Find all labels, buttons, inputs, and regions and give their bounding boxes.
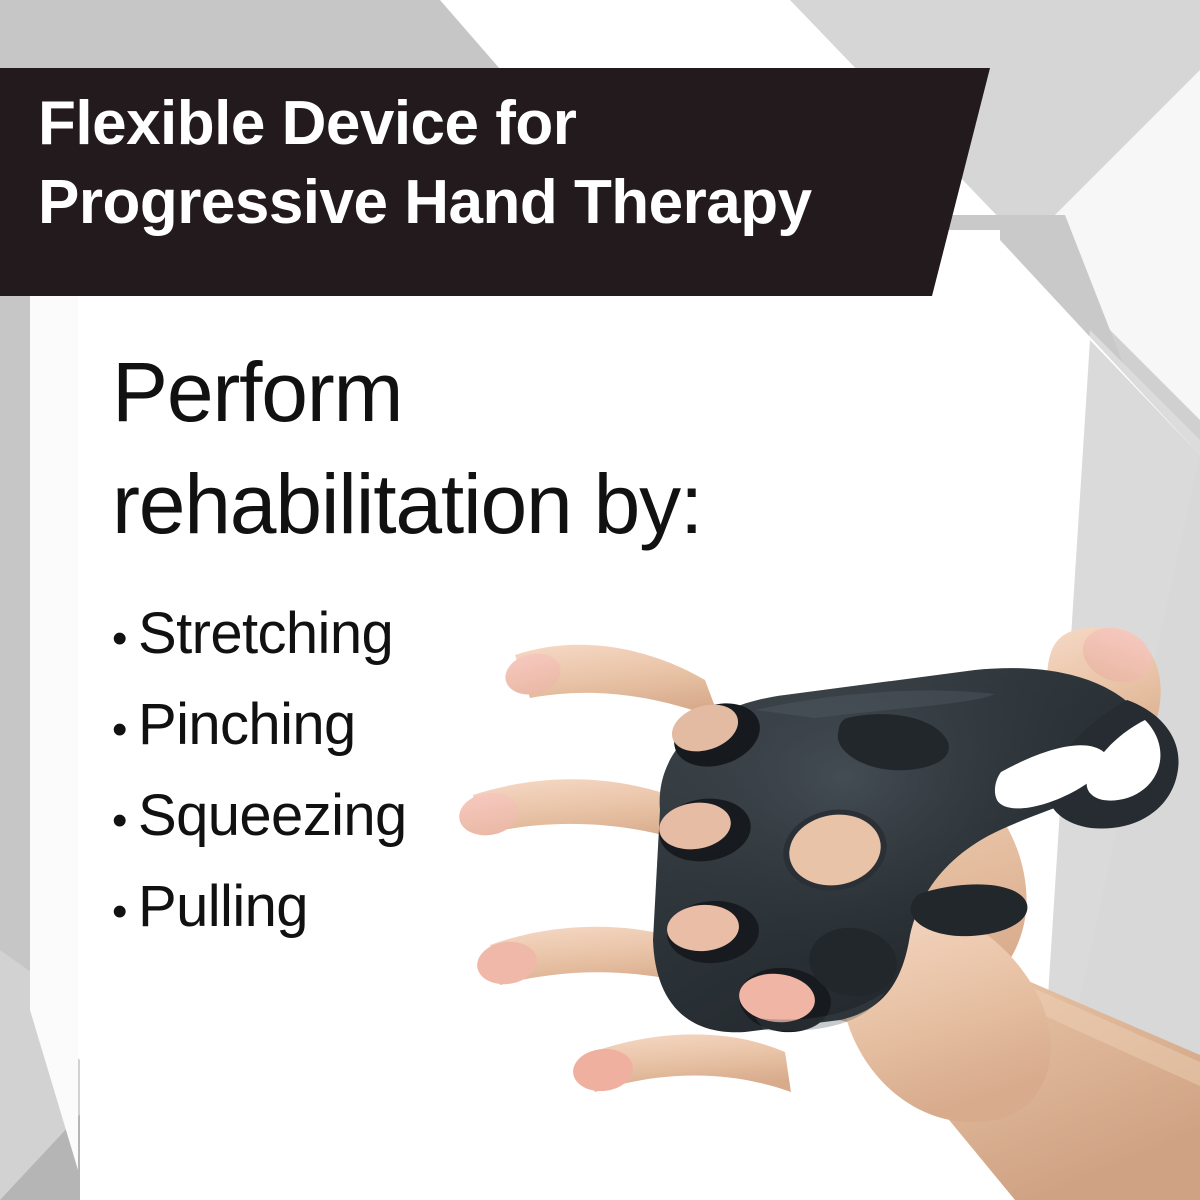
list-item-label: Stretching — [138, 600, 393, 667]
poster-canvas: Flexible Device for Progressive Hand The… — [0, 0, 1200, 1200]
list-item-label: Pinching — [138, 691, 356, 758]
page-title: Flexible Device for Progressive Hand The… — [38, 84, 958, 243]
benefit-list: • Stretching • Pinching • Squeezing • Pu… — [112, 600, 407, 964]
bullet-icon: • — [112, 617, 138, 661]
list-item-label: Squeezing — [138, 782, 407, 849]
list-item: • Pinching — [112, 691, 407, 782]
header-banner: Flexible Device for Progressive Hand The… — [0, 68, 1000, 296]
list-item-label: Pulling — [138, 873, 308, 940]
list-item: • Pulling — [112, 873, 407, 964]
bullet-icon: • — [112, 799, 138, 843]
subheading: Perform rehabilitation by: — [112, 337, 872, 560]
bullet-icon: • — [112, 890, 138, 934]
bullet-icon: • — [112, 708, 138, 752]
content-panel-left-edge — [30, 230, 78, 1170]
list-item: • Squeezing — [112, 782, 407, 873]
product-photo-hand-exerciser — [455, 600, 1200, 1200]
list-item: • Stretching — [112, 600, 407, 691]
